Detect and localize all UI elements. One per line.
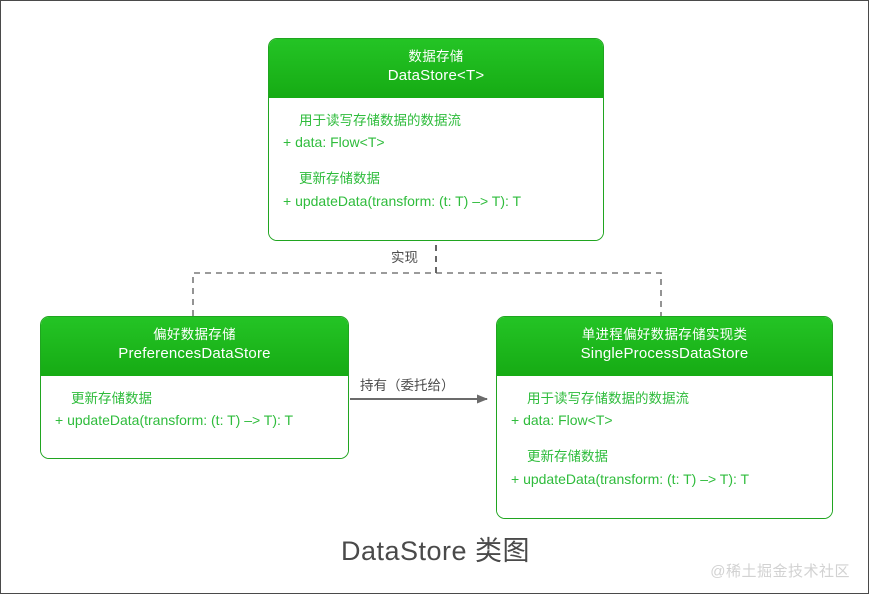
class-title-en: PreferencesDataStore: [47, 344, 342, 364]
relation-label-holds: 持有（委托给）: [360, 374, 455, 394]
class-box-singleprocessdatastore[interactable]: 单进程偏好数据存储实现类 SingleProcessDataStore 用于读写…: [496, 316, 833, 519]
class-member: 更新存储数据 + updateData(transform: (t: T) –>…: [55, 388, 334, 433]
member-signature: + updateData(transform: (t: T) –> T): T: [283, 190, 589, 213]
class-member: 更新存储数据 + updateData(transform: (t: T) –>…: [511, 446, 818, 491]
class-title-en: SingleProcessDataStore: [503, 344, 826, 364]
class-body-datastore: 用于读写存储数据的数据流 + data: Flow<T> 更新存储数据 + up…: [269, 98, 603, 240]
class-title-cn: 单进程偏好数据存储实现类: [503, 326, 826, 344]
diagram-canvas: 数据存储 DataStore<T> 用于读写存储数据的数据流 + data: F…: [0, 0, 869, 594]
member-description: 更新存储数据: [55, 388, 334, 410]
class-header-singleprocessdatastore: 单进程偏好数据存储实现类 SingleProcessDataStore: [497, 317, 832, 376]
class-box-preferencesdatastore[interactable]: 偏好数据存储 PreferencesDataStore 更新存储数据 + upd…: [40, 316, 349, 459]
class-member: 用于读写存储数据的数据流 + data: Flow<T>: [283, 110, 589, 155]
class-title-cn: 偏好数据存储: [47, 326, 342, 344]
member-signature: + data: Flow<T>: [511, 409, 818, 432]
realization-connector: [193, 233, 661, 316]
class-title-en: DataStore<T>: [275, 66, 597, 86]
class-member: 更新存储数据 + updateData(transform: (t: T) –>…: [283, 168, 589, 213]
class-member: 用于读写存储数据的数据流 + data: Flow<T>: [511, 388, 818, 433]
class-body-preferencesdatastore: 更新存储数据 + updateData(transform: (t: T) –>…: [41, 376, 348, 458]
class-body-singleprocessdatastore: 用于读写存储数据的数据流 + data: Flow<T> 更新存储数据 + up…: [497, 376, 832, 518]
relation-label-implements: 实现: [391, 246, 418, 266]
member-description: 用于读写存储数据的数据流: [511, 388, 818, 410]
class-header-preferencesdatastore: 偏好数据存储 PreferencesDataStore: [41, 317, 348, 376]
class-box-datastore[interactable]: 数据存储 DataStore<T> 用于读写存储数据的数据流 + data: F…: [268, 38, 604, 241]
member-signature: + updateData(transform: (t: T) –> T): T: [511, 468, 818, 491]
member-signature: + data: Flow<T>: [283, 131, 589, 154]
member-signature: + updateData(transform: (t: T) –> T): T: [55, 409, 334, 432]
class-title-cn: 数据存储: [275, 48, 597, 66]
class-header-datastore: 数据存储 DataStore<T>: [269, 39, 603, 98]
member-description: 更新存储数据: [511, 446, 818, 468]
watermark: @稀土掘金技术社区: [710, 560, 850, 581]
member-description: 更新存储数据: [283, 168, 589, 190]
member-description: 用于读写存储数据的数据流: [283, 110, 589, 132]
